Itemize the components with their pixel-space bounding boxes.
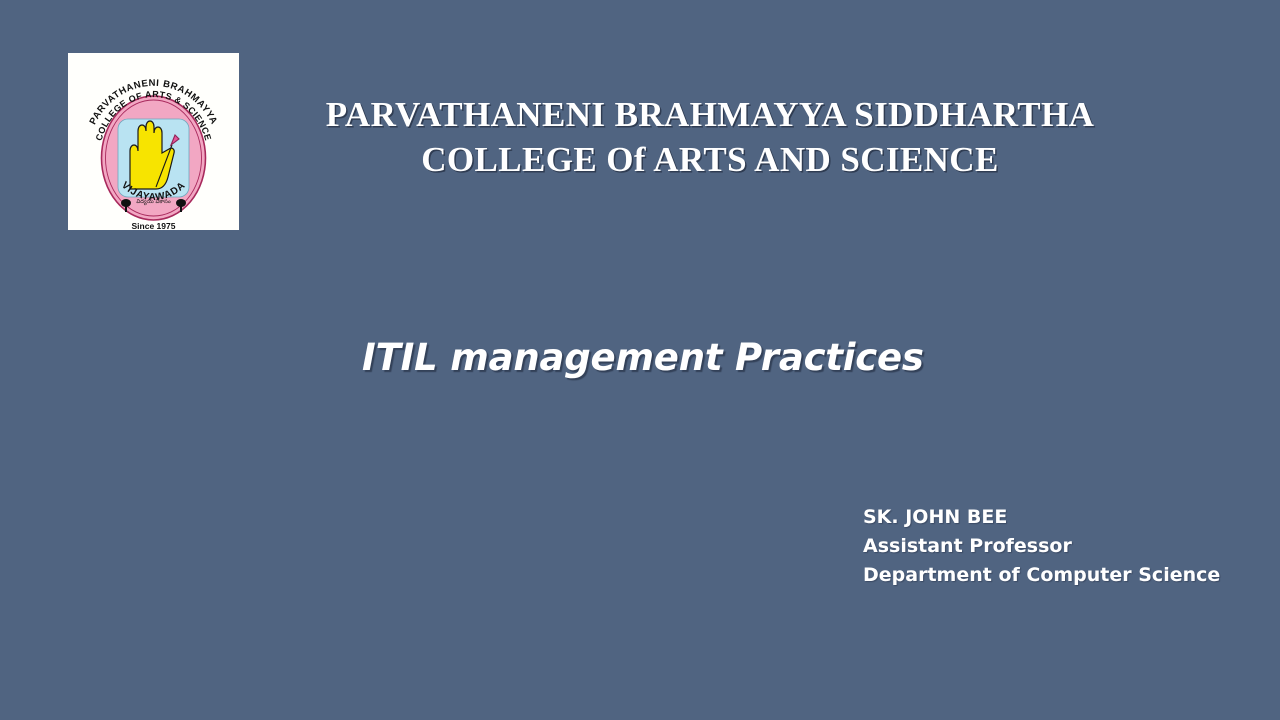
institution-heading-line-2: COLLEGE Of ARTS AND SCIENCE <box>270 137 1150 182</box>
svg-text:Since 1975: Since 1975 <box>132 221 176 230</box>
presenter-department: Department of Computer Science <box>863 561 1220 590</box>
presenter-designation: Assistant Professor <box>863 532 1220 561</box>
institution-heading: PARVATHANENI BRAHMAYYA SIDDHARTHA COLLEG… <box>270 92 1150 182</box>
college-logo-container: PARVATHANENI BRAHMAYYA COLLEGE OF ARTS &… <box>68 53 239 230</box>
institution-heading-line-1: PARVATHANENI BRAHMAYYA SIDDHARTHA <box>270 92 1150 137</box>
presenter-block: SK. JOHN BEE Assistant Professor Departm… <box>863 503 1220 590</box>
college-emblem-icon: PARVATHANENI BRAHMAYYA COLLEGE OF ARTS &… <box>68 53 239 230</box>
presentation-title: ITIL management Practices <box>362 336 924 380</box>
presentation-slide: PARVATHANENI BRAHMAYYA COLLEGE OF ARTS &… <box>0 0 1280 720</box>
presenter-name: SK. JOHN BEE <box>863 503 1220 532</box>
